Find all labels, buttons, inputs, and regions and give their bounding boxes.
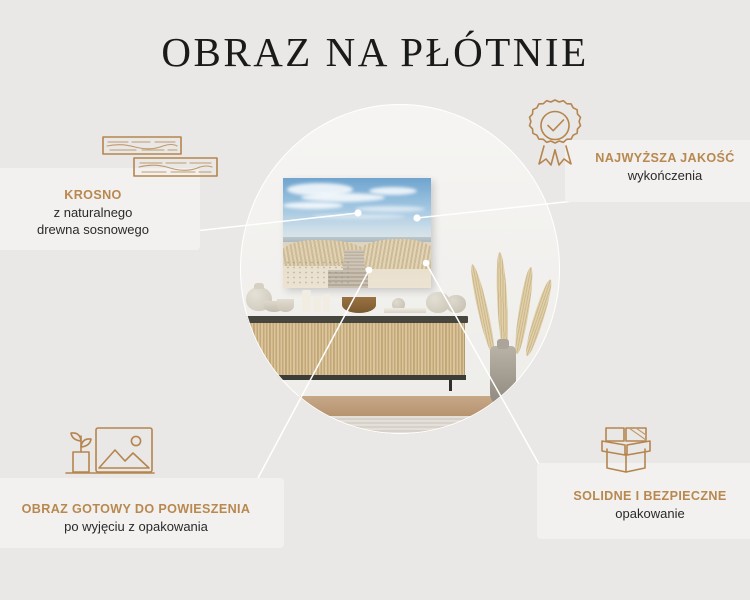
framed-picture-icon bbox=[60, 424, 164, 495]
sideboard-leg-brace bbox=[250, 380, 289, 390]
feature-title-krosno: KROSNO bbox=[0, 188, 200, 204]
infographic-page: OBRAZ NA PŁÓTNIE bbox=[0, 0, 750, 600]
feature-title-solidne: SOLIDNE I BEZPIECZNE bbox=[537, 489, 750, 505]
cloud bbox=[283, 202, 343, 209]
sideboard-top bbox=[240, 316, 468, 323]
product-scene-circle bbox=[240, 104, 560, 434]
sideboard-fluted-front bbox=[241, 323, 465, 375]
candle bbox=[313, 297, 321, 312]
sideboard bbox=[240, 316, 468, 386]
sideboard-leg bbox=[449, 380, 452, 391]
wood-planks-icon bbox=[98, 133, 222, 190]
ceramic-pot bbox=[446, 295, 466, 313]
feature-title-jakosc: NAJWYŻSZA JAKOŚĆ bbox=[565, 151, 750, 167]
feature-subtitle-gotowy: po wyjęciu z opakowania bbox=[0, 518, 284, 535]
page-title: OBRAZ NA PŁÓTNIE bbox=[0, 28, 750, 76]
cardboard-box-icon bbox=[596, 418, 656, 483]
quality-badge-icon bbox=[524, 96, 586, 173]
candle bbox=[323, 294, 330, 312]
cloud bbox=[301, 193, 385, 202]
small-bowl bbox=[277, 299, 294, 312]
stacked-books bbox=[384, 308, 426, 313]
rug bbox=[240, 416, 560, 434]
feature-card-jakosc: NAJWYŻSZA JAKOŚĆ wykończenia bbox=[565, 140, 750, 202]
cloud bbox=[313, 214, 405, 219]
wooden-bowl bbox=[342, 297, 376, 313]
feature-subtitle-jakosc: wykończenia bbox=[565, 167, 750, 184]
feature-subtitle-krosno-line1: z naturalnego bbox=[0, 204, 200, 221]
feature-subtitle-krosno-line2: drewna sosnowego bbox=[0, 221, 200, 238]
canvas-artwork bbox=[283, 178, 431, 288]
tall-stone-vase bbox=[490, 346, 516, 406]
room-interior bbox=[240, 104, 560, 434]
cloud bbox=[355, 206, 425, 212]
room-scene-photo bbox=[240, 104, 560, 434]
feature-subtitle-solidne: opakowanie bbox=[537, 505, 750, 522]
candle bbox=[302, 290, 311, 312]
artwork-sand-texture bbox=[285, 260, 349, 286]
cloud bbox=[369, 187, 417, 195]
feature-title-gotowy: OBRAZ GOTOWY DO POWIESZENIA bbox=[0, 502, 284, 518]
